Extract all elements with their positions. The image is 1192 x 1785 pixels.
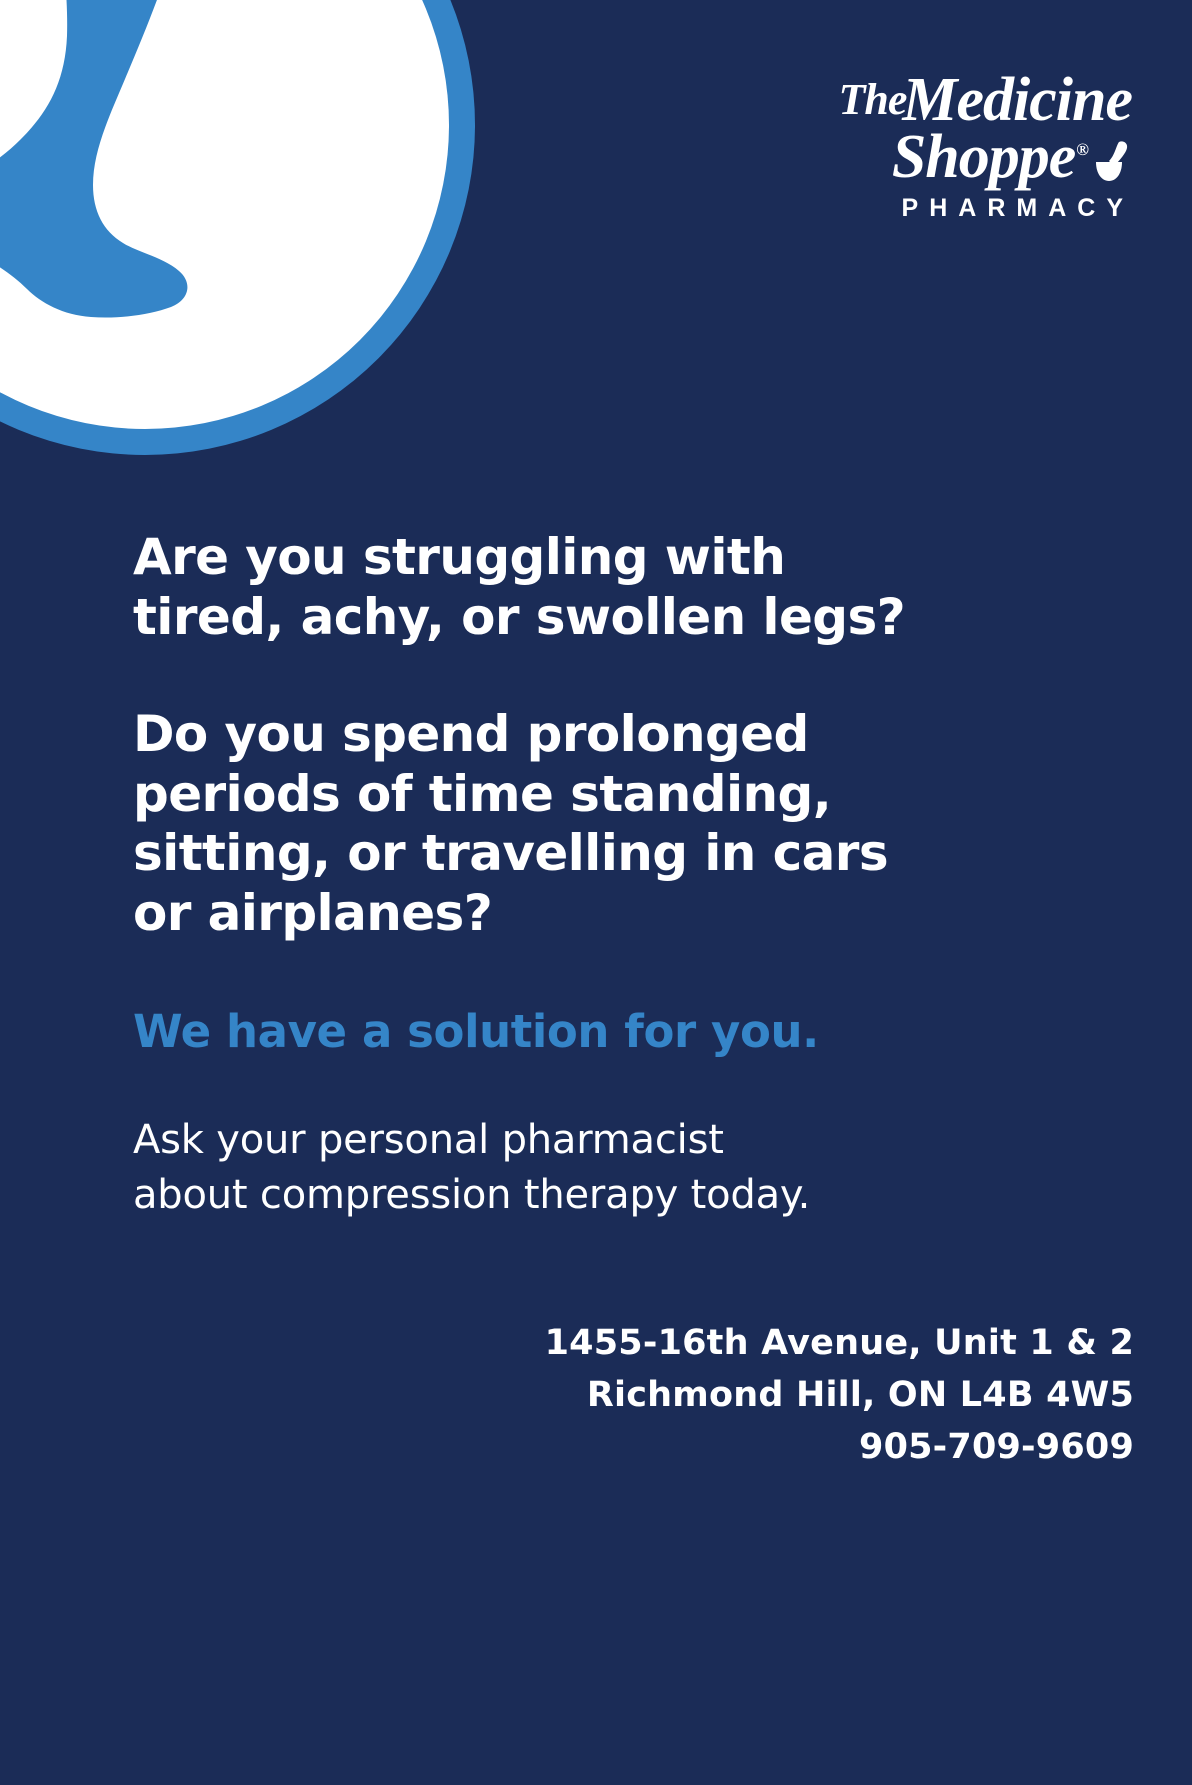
hero-badge xyxy=(0,0,475,455)
logo-word-the: The xyxy=(838,75,906,124)
headline-primary: Are you struggling with tired, achy, or … xyxy=(133,528,1063,647)
body-copy: Ask your personal pharmacist about compr… xyxy=(133,1058,1063,1223)
leg-compression-stocking-icon xyxy=(0,0,449,429)
logo-word-shoppe: Shoppe xyxy=(892,123,1075,191)
poster-copy: Are you struggling with tired, achy, or … xyxy=(133,528,1063,1223)
mortar-and-pestle-icon xyxy=(1092,140,1132,182)
logo-line-medicine: TheMedicine xyxy=(734,72,1134,129)
accent-tagline: We have a solution for you. xyxy=(133,943,1063,1058)
headline-secondary: Do you spend prolonged periods of time s… xyxy=(133,705,1063,943)
address-street: 1455-16th Avenue, Unit 1 & 2 xyxy=(434,1318,1134,1370)
brand-logo: TheMedicine Shoppe® PHARMACY xyxy=(734,72,1134,223)
registered-mark: ® xyxy=(1076,140,1088,159)
logo-pharmacy-word: PHARMACY xyxy=(734,194,1134,223)
poster-canvas: TheMedicine Shoppe® PHARMACY Are you str… xyxy=(0,0,1192,1785)
logo-line-shoppe: Shoppe® xyxy=(734,129,1134,186)
address-city: Richmond Hill, ON L4B 4W5 xyxy=(434,1370,1134,1422)
store-address-block: 1455-16th Avenue, Unit 1 & 2 Richmond Hi… xyxy=(434,1318,1134,1473)
address-phone[interactable]: 905-709-9609 xyxy=(434,1422,1134,1474)
